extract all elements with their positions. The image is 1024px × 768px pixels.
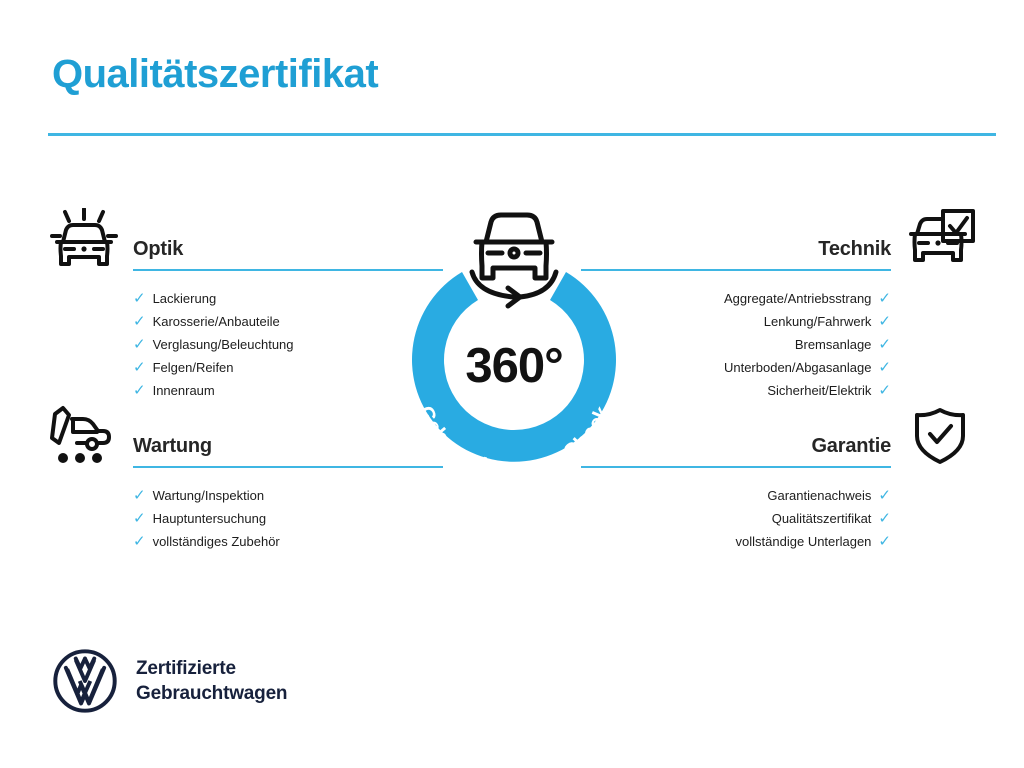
check-icon: ✓	[878, 488, 891, 503]
footer-branding: Zertifizierte Gebrauchtwagen	[52, 648, 287, 714]
car-front-checkbox-icon	[897, 207, 977, 271]
list-item-label: vollständiges Zubehör	[153, 530, 280, 553]
list-item-label: Garantienachweis	[767, 484, 871, 507]
list-item-label: Karosserie/Anbauteile	[153, 310, 280, 333]
check-icon: ✓	[133, 291, 146, 306]
check-icon: ✓	[878, 534, 891, 549]
footer-line-2: Gebrauchtwagen	[136, 681, 287, 706]
check-icon: ✓	[133, 337, 146, 352]
list-item-label: Bremsanlage	[795, 333, 872, 356]
list-item-label: Verglasung/Beleuchtung	[153, 333, 294, 356]
list-item-label: Lenkung/Fahrwerk	[764, 310, 872, 333]
check-icon: ✓	[878, 291, 891, 306]
list-item: ✓Hauptuntersuchung	[133, 507, 443, 530]
car-dipstick-oil-icon	[47, 404, 127, 468]
list-item-label: Unterboden/Abgasanlage	[724, 356, 871, 379]
check-icon: ✓	[878, 337, 891, 352]
list-item-label: Qualitätszertifikat	[772, 507, 872, 530]
check-icon: ✓	[878, 360, 891, 375]
check-icon: ✓	[133, 511, 146, 526]
list-item-label: Felgen/Reifen	[153, 356, 234, 379]
page-title: Qualitätszertifikat	[52, 52, 378, 96]
check-icon: ✓	[133, 314, 146, 329]
car-front-shine-icon	[47, 207, 127, 271]
list-item: vollständige Unterlagen✓	[581, 530, 891, 553]
badge-value: 360°	[374, 338, 654, 394]
car-rotate-icon	[472, 215, 556, 306]
shield-check-icon	[897, 404, 977, 468]
list-item-label: Sicherheit/Elektrik	[767, 379, 871, 402]
list-item-label: Innenraum	[153, 379, 215, 402]
footer-line-1: Zertifizierte	[136, 656, 287, 681]
title-divider	[48, 133, 996, 136]
list-item: Qualitätszertifikat✓	[581, 507, 891, 530]
check-icon: ✓	[133, 383, 146, 398]
vw-logo	[52, 648, 118, 714]
check-icon: ✓	[133, 534, 146, 549]
check-icon: ✓	[878, 314, 891, 329]
check-icon: ✓	[133, 488, 146, 503]
list-item-label: Lackierung	[153, 287, 217, 310]
list-item-label: vollständige Unterlagen	[736, 530, 872, 553]
list-item: ✓vollständiges Zubehör	[133, 530, 443, 553]
certificate-page: Qualitätszertifikat	[0, 0, 1024, 768]
check-icon: ✓	[878, 383, 891, 398]
list-item-label: Wartung/Inspektion	[153, 484, 265, 507]
footer-text: Zertifizierte Gebrauchtwagen	[136, 656, 287, 706]
list-item-label: Hauptuntersuchung	[153, 507, 266, 530]
check-icon: ✓	[133, 360, 146, 375]
list-item-label: Aggregate/Antriebsstrang	[724, 287, 871, 310]
check-icon: ✓	[878, 511, 891, 526]
badge-360-gebrauchtwagen-check: Gebrauchtwagen-Check 360°	[374, 190, 654, 500]
